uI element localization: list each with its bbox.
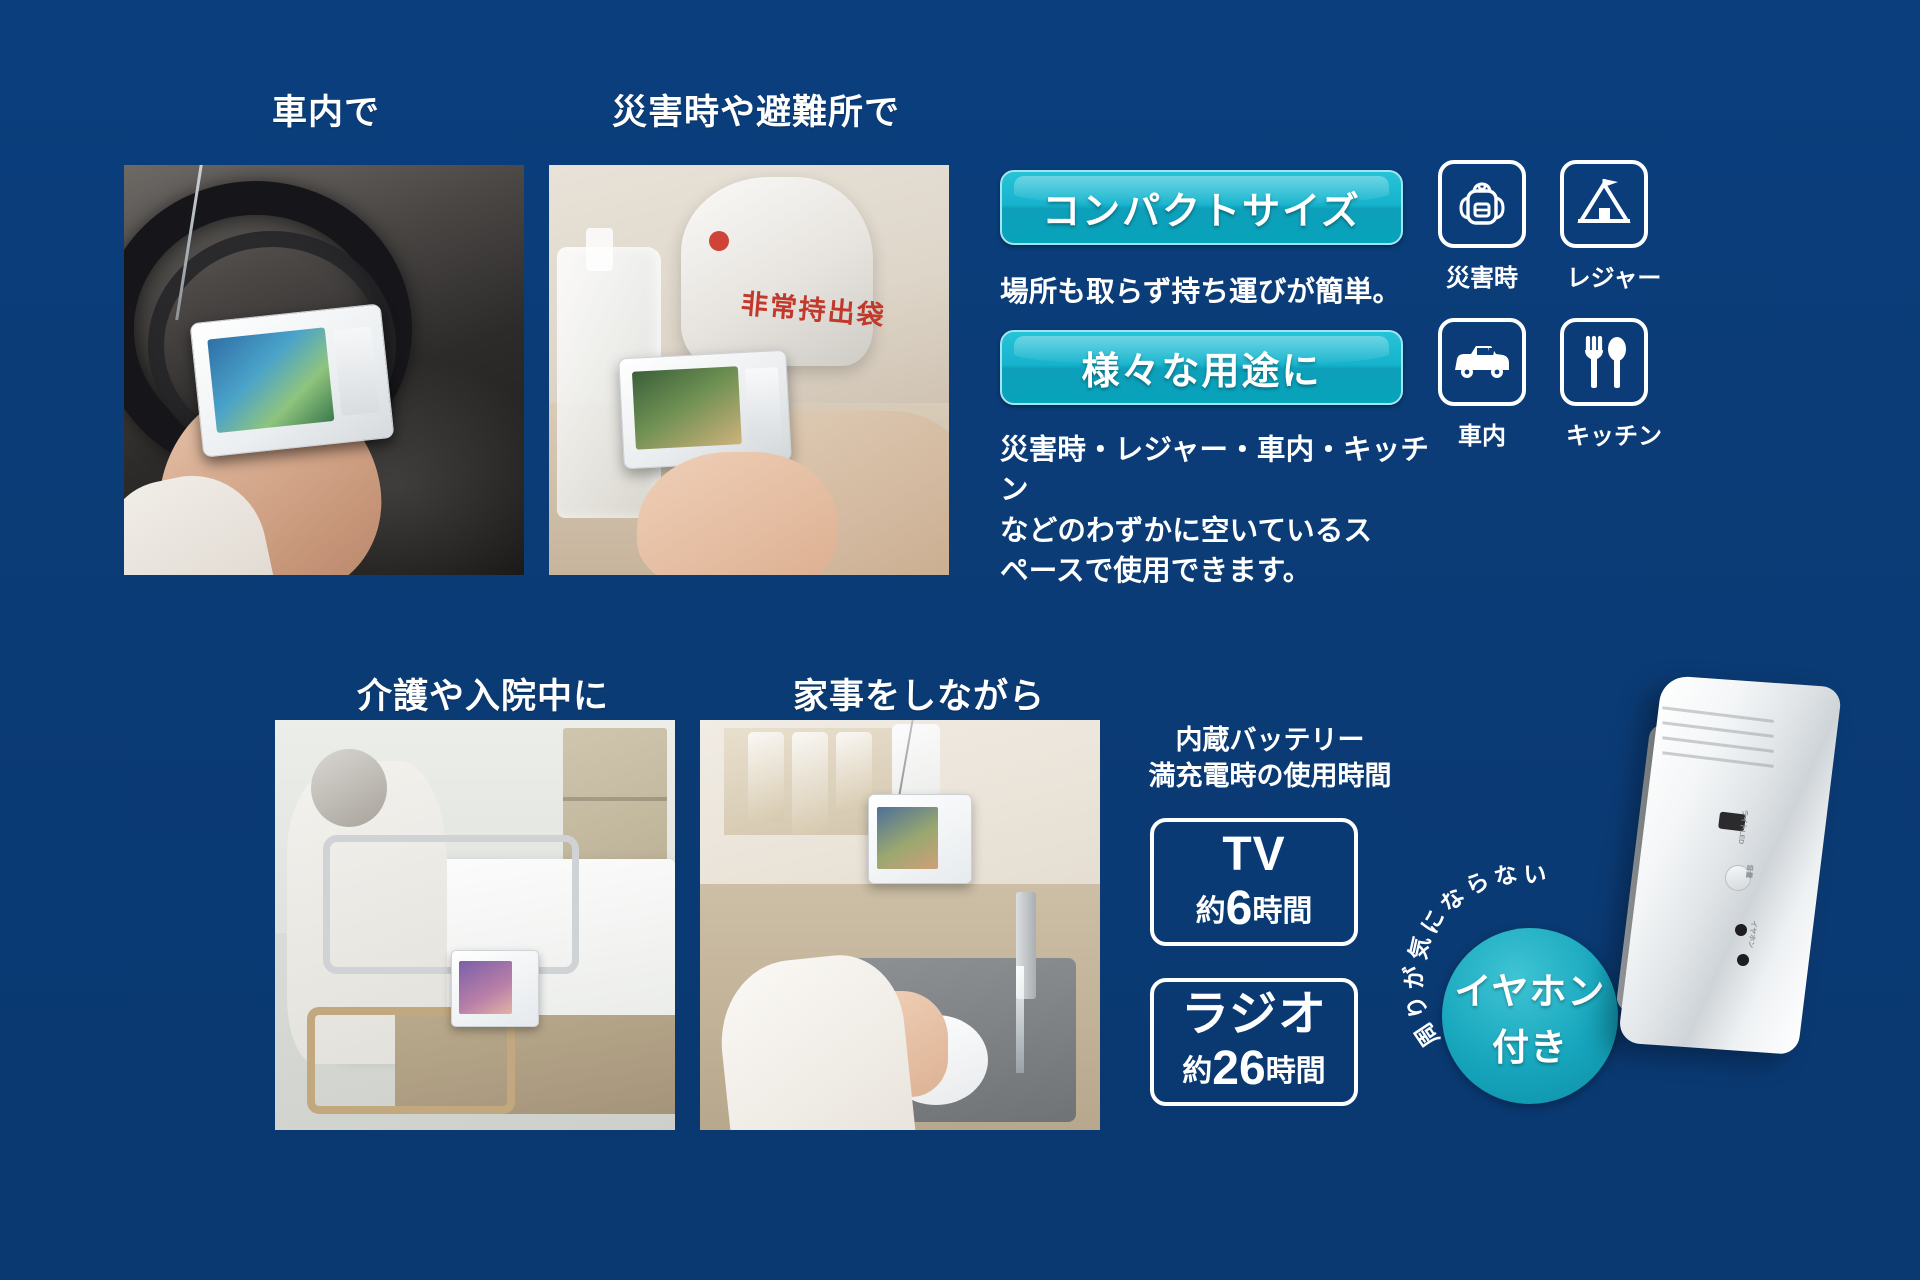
earphone-arc-char: な	[1489, 854, 1520, 893]
portable-tv-device	[451, 950, 539, 1028]
water-stream-shape	[1016, 966, 1024, 1073]
device-control-panel	[333, 326, 380, 415]
battery-duration-tv: 約6時間	[1196, 885, 1313, 933]
battery-box-tv: TV 約6時間	[1150, 818, 1358, 946]
earphone-badge-line2: 付き	[1492, 1017, 1568, 1071]
backpack-icon	[1454, 176, 1510, 232]
battery-unit-radio: 時間	[1266, 1055, 1326, 1088]
patient-head-shape	[311, 749, 387, 827]
earphone-arc-char: い	[1524, 855, 1547, 889]
tent-icon	[1575, 177, 1633, 231]
feature-compact-description: 場所も取らず持ち運びが簡単。	[1000, 272, 1420, 312]
device-screen	[207, 327, 334, 432]
battery-prefix-tv: 約	[1196, 895, 1226, 928]
device-screen	[877, 807, 938, 869]
device-screen	[632, 366, 742, 450]
product-photo-rear: ライトLED 音量 イヤホン	[1640, 680, 1820, 1050]
header-in-car: 車内で	[272, 84, 380, 135]
photo-in-car-content	[124, 165, 524, 575]
earphone-badge: イヤホン 付き	[1442, 928, 1618, 1104]
battery-title: 内蔵バッテリー 満充電時の使用時間	[1125, 722, 1415, 795]
jar-shape	[836, 732, 872, 810]
icon-box-kitchen[interactable]	[1560, 318, 1648, 406]
photo-housework	[700, 720, 1100, 1130]
battery-value-radio: 26	[1212, 1042, 1265, 1095]
earphone-arc-char: が	[1394, 965, 1429, 990]
pill-various-uses[interactable]: 様々な用途に	[1000, 330, 1403, 405]
device-control-panel	[744, 367, 781, 440]
photo-in-car	[124, 165, 524, 575]
bag-emblem-shape	[709, 231, 729, 251]
photo-housework-content	[700, 720, 1100, 1130]
photo-nursing-hospital-content	[275, 720, 675, 1130]
photo-disaster-shelter-content: 非常持出袋	[549, 165, 949, 575]
earphone-badge-line1: イヤホン	[1455, 961, 1606, 1015]
earphone-arc-char: 気	[1399, 933, 1437, 963]
photo-nursing-hospital	[275, 720, 675, 1130]
emergency-bag-shape	[681, 177, 873, 366]
portable-tv-device	[868, 794, 972, 884]
battery-duration-radio: 約26時間	[1182, 1045, 1325, 1093]
pill-compact-size[interactable]: コンパクトサイズ	[1000, 170, 1403, 245]
device-screen	[459, 961, 512, 1014]
photo-disaster-shelter: 非常持出袋	[549, 165, 949, 575]
icon-label-kitchen: キッチン	[1559, 416, 1669, 451]
battery-value-tv: 6	[1226, 882, 1253, 935]
portable-tv-device	[618, 349, 792, 468]
header-nursing-hospital: 介護や入院中に	[357, 668, 609, 719]
icon-box-car[interactable]	[1438, 318, 1526, 406]
product-port-label-volume: 音量	[1744, 864, 1756, 879]
jar-shape	[748, 732, 784, 822]
battery-box-radio: ラジオ 約26時間	[1150, 978, 1358, 1106]
icon-label-leisure: レジャー	[1559, 258, 1669, 293]
portable-tv-device	[189, 303, 394, 458]
fork-spoon-icon	[1578, 334, 1630, 390]
icon-label-disaster: 災害時	[1427, 258, 1537, 293]
battery-mode-radio: ラジオ	[1181, 991, 1327, 1039]
earphone-arc-char: 周	[1405, 1016, 1446, 1054]
icon-box-leisure[interactable]	[1560, 160, 1648, 248]
icon-label-in-car: 車内	[1427, 416, 1537, 451]
jar-shape	[792, 732, 828, 835]
icon-box-disaster[interactable]	[1438, 160, 1526, 248]
header-disaster-shelter: 災害時や避難所で	[612, 84, 900, 135]
battery-mode-tv: TV	[1222, 831, 1285, 879]
feature-various-uses-description: 災害時・レジャー・車内・キッチン などのわずかに空いているス ペースで使用できま…	[1000, 430, 1430, 592]
battery-prefix-radio: 約	[1182, 1055, 1212, 1088]
header-housework: 家事をしながら	[793, 668, 1045, 719]
battery-unit-tv: 時間	[1252, 895, 1312, 928]
advertisement-page: 車内で 災害時や避難所で 非常持出袋	[0, 0, 1920, 1280]
car-icon	[1451, 342, 1513, 382]
